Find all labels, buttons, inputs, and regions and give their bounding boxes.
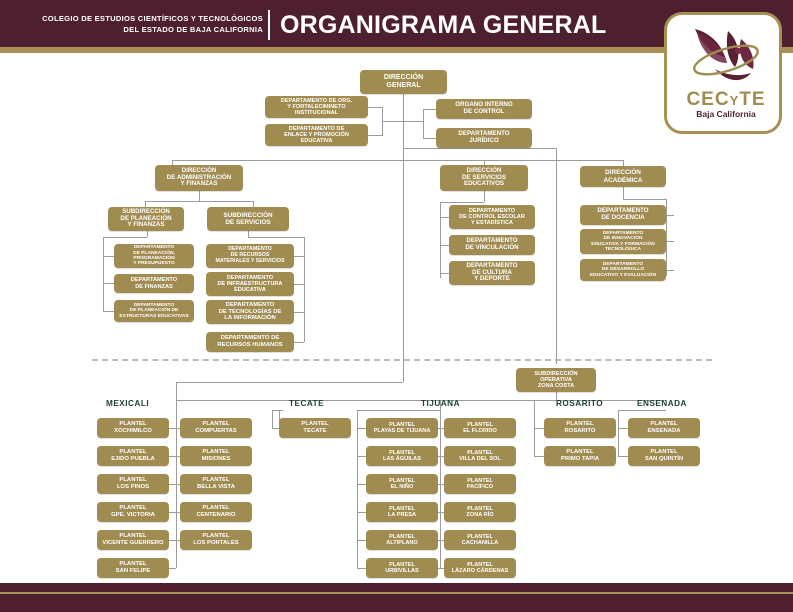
connector-planeacion-bus	[103, 237, 104, 311]
plantel-box[interactable]: PLANTELZONA RÍO	[444, 502, 516, 522]
connector-tijuana-left-1	[438, 456, 440, 457]
connector-staff-left-to-trunk	[382, 121, 403, 122]
connector-tijuana-left-0	[438, 428, 440, 429]
header-divider	[268, 10, 270, 40]
node-direccion-administracion-finanzas[interactable]: DIRECCIÓNDE ADMINISTRACIÓNY FINANZAS	[155, 165, 243, 191]
logo-y: Y	[730, 93, 740, 108]
connector-tecate-stub	[272, 428, 279, 429]
node-text-line: INSTITUCIONAL	[281, 110, 352, 116]
node-dep-infraestructura[interactable]: DEPARTAMENTODE INFRAESTRUCTURAEDUCATIVA	[206, 272, 294, 296]
node-text-line: DE PLANEACIÓN DE	[119, 308, 188, 313]
plantel-box[interactable]: PLANTELTECATE	[279, 418, 351, 438]
connector-mexicali-left-2	[169, 484, 176, 485]
plantel-box[interactable]: PLANTELEL NIÑO	[366, 474, 438, 494]
connector-tijuana-lstub-2	[357, 484, 366, 485]
plantel-box[interactable]: PLANTELGPE. VICTORIA	[97, 502, 169, 522]
connector-tijuana-left-3	[438, 512, 440, 513]
node-text-line: SUBDIRECCIÓN	[534, 371, 577, 377]
node-text-line: PLANTEL	[195, 421, 236, 428]
connector-academica-bus	[666, 199, 667, 276]
node-text-line: Y DEPORTE	[466, 276, 517, 283]
node-dep-recursos-humanos[interactable]: DEPARTAMENTO DERECURSOS HUMANOS	[206, 332, 294, 352]
node-text-line: DE FINANZAS	[131, 284, 177, 290]
node-text-line: EDUCATIVA	[218, 287, 283, 293]
node-text-line: DE DOCENCIA	[597, 215, 648, 222]
connector-servicios-top	[248, 237, 304, 238]
node-dep-finanzas[interactable]: DEPARTAMENTODE FINANZAS	[114, 274, 194, 293]
node-text-line: MISIONES	[202, 456, 231, 463]
connector-mexicali-left-3	[169, 512, 176, 513]
connector-ensenada-spine	[618, 410, 619, 456]
node-text-line: ROSARITO	[565, 428, 596, 435]
node-text-line: EL NIÑO	[389, 484, 415, 490]
plantel-box[interactable]: PLANTELPACÍFICO	[444, 474, 516, 494]
connector-sedu-c1	[440, 217, 449, 218]
node-text-line: URBIVILLAS	[385, 568, 419, 574]
node-text-line: DIRECCIÓN	[603, 169, 642, 176]
node-text-line: CACHANILLA	[462, 540, 499, 546]
connector-mexicali-left-1	[169, 456, 176, 457]
node-dep-juridico[interactable]: DEPARTAMENTOJURÍDICO	[436, 128, 532, 148]
node-text-line: DEPARTAMENTO	[219, 302, 282, 309]
org-name-line-2: DEL ESTADO DE BAJA CALIFORNIA	[18, 24, 263, 35]
region-label-ensenada: ENSENADA	[637, 399, 687, 408]
connector-sedu-c3	[440, 273, 449, 274]
connector-tijuana-lstub-5	[357, 568, 366, 569]
connector-sedu-c2	[440, 245, 449, 246]
node-text-line: ZONA COSTA	[534, 383, 577, 389]
plantel-box[interactable]: PLANTELROSARITO	[544, 418, 616, 438]
connector-servicios-c2	[294, 284, 304, 285]
connector-mexicali-left-5	[169, 568, 176, 569]
connector-sedu-bus	[440, 202, 441, 278]
node-text-line: COMPUERTAS	[195, 428, 236, 435]
connector-academica-bus-top	[623, 199, 666, 200]
connector-mexicali-left-0	[169, 428, 176, 429]
node-text-line: DE CONTROL	[455, 109, 512, 116]
node-text-line: DEPARTAMENTO	[131, 277, 177, 283]
connector-mexicali-left-4	[169, 540, 176, 541]
node-organo-interno-control[interactable]: ORGANO INTERNODE CONTROL	[436, 99, 532, 119]
node-text-line: MATERIALES Y SERVICIOS	[215, 259, 284, 265]
region-label-tecate: TECATE	[289, 399, 324, 408]
node-text-line: Y FINANZAS	[167, 181, 231, 188]
node-dep-tecnologias[interactable]: DEPARTAMENTODE TECNOLOGÍAS DELA INFORMAC…	[206, 300, 294, 324]
connector-academica-c1	[666, 215, 674, 216]
connector-tijuana-left-spine	[357, 410, 358, 568]
node-dep-planeacion-estructuras[interactable]: DEPARTAMENTODE PLANEACIÓN DEESTRUCTURAS …	[114, 300, 194, 322]
connector-servicios-c4	[294, 342, 304, 343]
region-label-tijuana: TIJUANA	[421, 399, 460, 408]
connector-tijuana-left-5	[438, 568, 440, 569]
plantel-box[interactable]: PLANTELVILLA DEL SOL	[444, 446, 516, 466]
node-text-line: Y PRESUPUESTO	[133, 261, 175, 266]
node-text-line: DEPARTAMENTO DE	[284, 126, 349, 132]
connector-tecate-drop	[272, 410, 273, 428]
plantel-box[interactable]: PLANTELSAN QUINTÍN	[628, 446, 700, 466]
node-text-line: GENERAL	[384, 82, 423, 90]
node-text-line: PLANTEL	[561, 449, 599, 456]
plantel-box[interactable]: PLANTELSAN FELIPE	[97, 558, 169, 578]
connector-zonacosta-trunk	[556, 148, 557, 364]
footer-bottom-bar	[0, 594, 793, 612]
node-text-line: PLANTEL	[193, 533, 238, 540]
connector-planteles-left-riser	[176, 382, 177, 400]
plantel-box[interactable]: PLANTELLAS ÁGUILAS	[366, 446, 438, 466]
connector-rosarito-c2	[534, 456, 544, 457]
node-text-line: PLANTEL	[565, 421, 596, 428]
connector-tijuana-lstub-4	[357, 540, 366, 541]
connector-staff-right-top	[423, 109, 437, 110]
node-text-line: TECATE	[301, 428, 328, 435]
cecyte-logo: CECYTE Baja California	[664, 12, 782, 134]
connector-academica-c3	[666, 270, 674, 271]
connector-sedu-bus-top	[440, 202, 484, 203]
connector-tijuana-lstub-0	[357, 428, 366, 429]
dashed-divider	[92, 359, 712, 361]
node-text-line: TECNOLÓGICA	[591, 247, 655, 252]
connector-ensenada-c2	[618, 456, 628, 457]
plantel-box[interactable]: PLANTELCOMPUERTAS	[180, 418, 252, 438]
node-text-line: LOS PORTALES	[193, 540, 238, 547]
node-text-line: EL FLORIDO	[463, 428, 497, 434]
node-text-line: PLANTEL	[197, 477, 235, 484]
node-dep-enlace-promocion[interactable]: DEPARTAMENTO DEENLACE Y PROMOCIÓNEDUCATI…	[265, 124, 368, 146]
plantel-box[interactable]: PLANTELEJIDO PUEBLA	[97, 446, 169, 466]
connector-planeacion-c2	[103, 283, 114, 284]
logo-subtitle: Baja California	[667, 109, 785, 119]
cecyte-bird-icon	[681, 23, 771, 91]
plantel-box[interactable]: PLANTELENSENADA	[628, 418, 700, 438]
node-text-line: PLANTEL	[116, 561, 151, 568]
plantel-box[interactable]: PLANTELMISIONES	[180, 446, 252, 466]
node-text-line: VILLA DEL SOL	[459, 456, 501, 462]
node-text-line: Y FINANZAS	[120, 222, 171, 229]
connector-staff-right-bus	[423, 109, 424, 138]
node-text-line: EDUCATIVOS	[462, 181, 506, 188]
node-text-line: XOCHIMILCO	[114, 428, 152, 435]
connector-servicios-c3	[294, 312, 304, 313]
node-text-line: LA PRESA	[388, 512, 416, 518]
connector-tijuana-lstub-3	[357, 512, 366, 513]
node-text-line: DEPARTAMENTO DE ORG.	[281, 98, 352, 104]
connector-academica-trunk	[623, 187, 624, 199]
node-text-line: PACÍFICO	[467, 484, 493, 490]
node-dep-org-fortalecimiento[interactable]: DEPARTAMENTO DE ORG.Y FORTALECIMINETOINS…	[265, 96, 368, 118]
node-text-line: DEPARTAMENTO	[218, 275, 283, 281]
node-text-line: DEPARTAMENTO	[459, 208, 525, 214]
node-text-line: EDUCATIVA	[284, 138, 349, 144]
plantel-box[interactable]: PLANTELCENTENARIO	[180, 502, 252, 522]
plantel-box[interactable]: PLANTELEL FLORIDO	[444, 418, 516, 438]
node-dep-control-escolar[interactable]: DEPARTAMENTODE CONTROL ESCOLARY ESTADÍST…	[449, 205, 535, 229]
plantel-box[interactable]: PLANTELPRIMO TAPIA	[544, 446, 616, 466]
connector-servicios-trunk	[248, 231, 249, 237]
node-text-line: PLANTEL	[202, 449, 231, 456]
connector-admin-bus	[145, 201, 253, 202]
node-text-line: ALTIPLANO	[386, 540, 418, 546]
node-text-line: PLANTEL	[647, 421, 680, 428]
node-text-line: CENTENARIO	[197, 512, 236, 519]
node-text-line: DEPARTAMENTO DE	[217, 335, 282, 342]
connector-staff-left-bottom	[368, 135, 383, 136]
node-text-line: LOS PINOS	[117, 484, 149, 491]
node-text-line: JURÍDICO	[458, 138, 509, 145]
node-text-line: SAN FELIPE	[116, 568, 151, 575]
node-text-line: BELLA VISTA	[197, 484, 235, 491]
org-name-line-1: COLEGIO DE ESTUDIOS CIENTÍFICOS Y TECNOL…	[18, 13, 263, 24]
connector-admin-trunk	[199, 191, 200, 201]
node-text-line: GPE. VICTORIA	[111, 512, 155, 519]
connector-staff-right-to-trunk	[403, 121, 424, 122]
node-text-line: LAS ÁGUILAS	[383, 456, 421, 462]
logo-te: TE	[739, 89, 765, 110]
node-text-line: Y ESTADÍSTICA	[459, 220, 525, 226]
node-subdireccion-operativa-zona-costa[interactable]: SUBDIRECCIÓNOPERATIVAZONA COSTA	[516, 368, 596, 392]
region-label-rosarito: ROSARITO	[556, 399, 603, 408]
plantel-box[interactable]: PLANTELLA PRESA	[366, 502, 438, 522]
node-text-line: PLANTEL	[301, 421, 328, 428]
node-subdireccion-planeacion-finanzas[interactable]: SUBDIRECCIÓNDE PLANEACIÓNY FINANZAS	[108, 207, 184, 231]
node-text-line: PRIMO TAPIA	[561, 456, 599, 463]
node-dep-cultura-deporte[interactable]: DEPARTAMENTODE CULTURAY DEPORTE	[449, 261, 535, 285]
plantel-box[interactable]: PLANTELXOCHIMILCO	[97, 418, 169, 438]
connector-tecate-link	[272, 410, 279, 411]
connector-dg-to-zonacosta	[403, 148, 556, 149]
plantel-box[interactable]: PLANTELURBIVILLAS	[366, 558, 438, 578]
node-text-line: RECURSOS HUMANOS	[217, 342, 282, 349]
node-text-line: PLANTEL	[111, 505, 155, 512]
region-label-mexicali: MEXICALI	[106, 399, 149, 408]
connector-tijuana-left-4	[438, 540, 440, 541]
node-text-line: ENSENADA	[647, 428, 680, 435]
connector-sedu-trunk	[484, 191, 485, 202]
plantel-box[interactable]: PLANTELLOS PINOS	[97, 474, 169, 494]
node-dep-docencia[interactable]: DEPARTAMENTODE DOCENCIA	[580, 205, 666, 225]
plantel-box[interactable]: PLANTELLÁZARO CÁRDENAS	[444, 558, 516, 578]
logo-cec: CEC	[686, 89, 729, 110]
node-text-line: ACADÉMICA	[603, 177, 642, 184]
plantel-box[interactable]: PLANTELVICENTE GUERRERO	[97, 530, 169, 550]
node-text-line: SUBDIRECCIÓN	[223, 212, 272, 219]
node-text-line: PLANTEL	[111, 449, 155, 456]
node-text-line: PLANTEL	[645, 449, 683, 456]
connector-tecate-feed	[279, 410, 283, 411]
node-text-line: PLANTEL	[117, 477, 149, 484]
connector-ensenada-c1	[618, 428, 628, 429]
organizational-chart-page: COLEGIO DE ESTUDIOS CIENTÍFICOS Y TECNOL…	[0, 0, 793, 612]
connector-tijuana-left-top	[357, 410, 440, 411]
page-title: ORGANIGRAMA GENERAL	[280, 10, 606, 40]
node-text-line: ZONA RÍO	[466, 512, 493, 518]
connector-tijuana-lstub-1	[357, 456, 366, 457]
plantel-box[interactable]: PLANTELCACHANILLA	[444, 530, 516, 550]
node-direccion-general[interactable]: DIRECCIÓNGENERAL	[360, 70, 447, 94]
node-text-line: DIRECCIÓN	[384, 74, 423, 82]
node-text-line: DEPARTAMENTO	[133, 245, 175, 250]
connector-ensenada-top	[618, 410, 666, 411]
node-text-line: PLANTEL	[102, 533, 163, 540]
node-dep-recursos-materiales[interactable]: DEPARTAMENTODE RECURSOSMATERIALES Y SERV…	[206, 244, 294, 268]
node-dep-planeacion-programacion[interactable]: DEPARTAMENTODE PLANEACIÓN,PROGRAMACIÓNY …	[114, 244, 194, 268]
node-text-line: VICENTE GUERRERO	[102, 540, 163, 547]
node-text-line: EJIDO PUEBLA	[111, 456, 155, 463]
connector-servicios-c1	[294, 256, 304, 257]
connector-tijuana-left-2	[438, 484, 440, 485]
connector-planteles-left-feed	[176, 382, 403, 383]
node-dep-desarrollo-evaluacion[interactable]: DEPARTAMENTODE DESARROLLOEDUCATIVO Y EVA…	[580, 259, 666, 281]
node-dep-vinculacion[interactable]: DEPARTAMENTODE VINCULACIÓN	[449, 235, 535, 255]
node-text-line: LÁZARO CÁRDENAS	[452, 568, 509, 574]
node-text-line: ESTRUCTURAS EDUCATIVAS	[119, 314, 188, 319]
connector-planeacion-c3	[103, 311, 114, 312]
plantel-box[interactable]: PLANTELBELLA VISTA	[180, 474, 252, 494]
plantel-box[interactable]: PLANTELALTIPLANO	[366, 530, 438, 550]
node-text-line: DE SERVICIOS	[223, 219, 272, 226]
footer-top-bar	[0, 583, 793, 592]
node-dep-innovacion[interactable]: DEPARTAMENTODE INNOVACIÓNEDUCATIVA Y FOR…	[580, 229, 666, 254]
connector-planeacion-c1	[103, 256, 114, 257]
node-text-line: PLAYAS DE TIJUANA	[374, 428, 431, 434]
node-text-line: SAN QUINTÍN	[645, 456, 683, 463]
node-text-line: EDUCATIVO Y EVALUACIÓN	[590, 273, 656, 278]
connector-planeacion-top	[103, 237, 147, 238]
node-text-line: DE VINCULACIÓN	[465, 245, 518, 252]
node-subdireccion-servicios[interactable]: SUBDIRECCIÓNDE SERVICIOS	[207, 207, 289, 231]
organization-name: COLEGIO DE ESTUDIOS CIENTÍFICOS Y TECNOL…	[18, 13, 263, 35]
node-text-line: LA INFORMACIÓN	[219, 315, 282, 322]
connector-dg-to-planteles-trunk	[403, 142, 404, 382]
connector-staff-left-top	[368, 107, 383, 108]
plantel-box[interactable]: PLANTELPLAYAS DE TIJUANA	[366, 418, 438, 438]
connector-rosarito-c1	[534, 428, 544, 429]
plantel-box[interactable]: PLANTELLOS PORTALES	[180, 530, 252, 550]
node-text-line: PLANTEL	[197, 505, 236, 512]
connector-planeacion-trunk	[147, 231, 148, 237]
connector-servicios-bus	[304, 237, 305, 342]
node-direccion-academica[interactable]: DIRECCIÓNACADÉMICA	[580, 166, 666, 187]
connector-staff-right-bottom	[423, 138, 437, 139]
node-text-line: PLANTEL	[114, 421, 152, 428]
logo-wordmark: CECYTE	[667, 89, 785, 111]
connector-academica-c2	[666, 241, 674, 242]
node-direccion-servicios-educativos[interactable]: DIRECCIÓNDE SERVICIOSEDUCATIVOS	[440, 165, 528, 191]
